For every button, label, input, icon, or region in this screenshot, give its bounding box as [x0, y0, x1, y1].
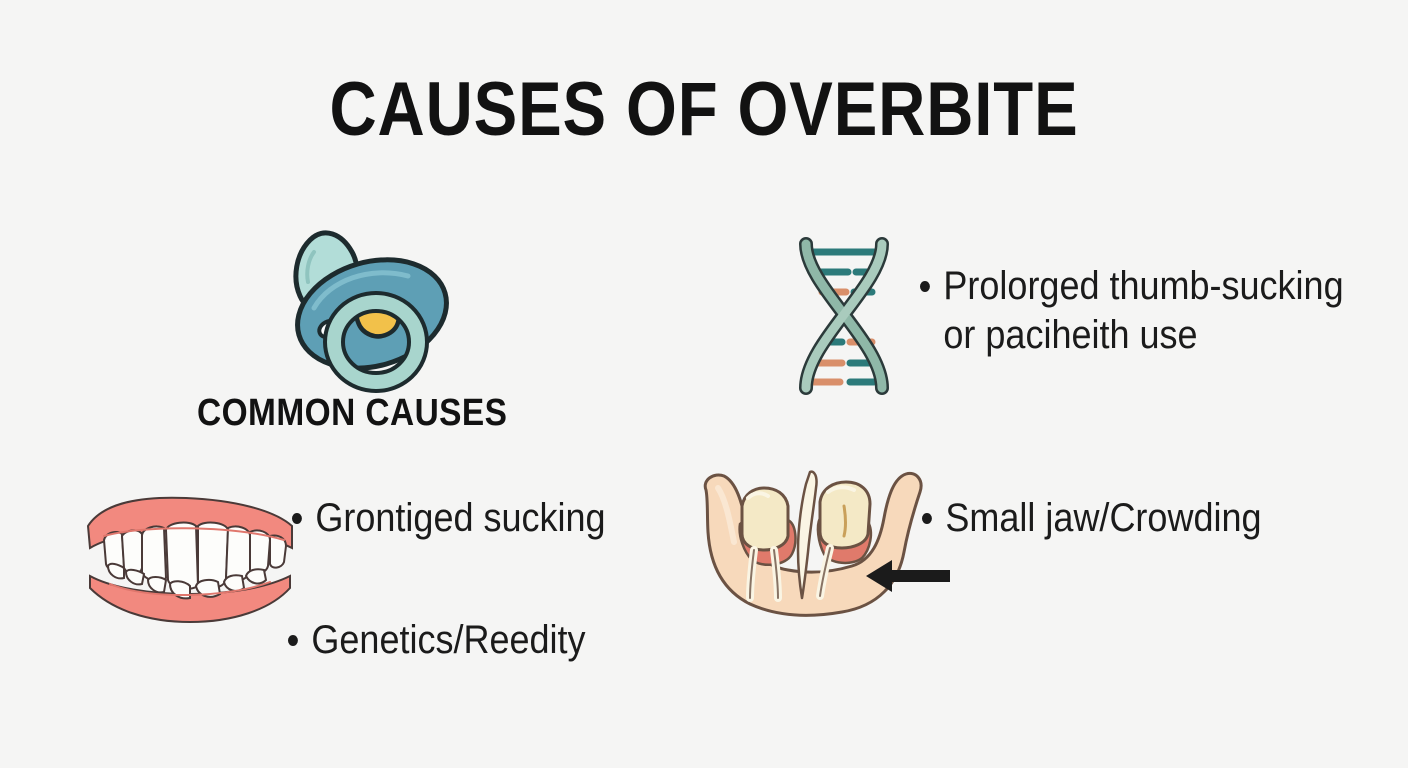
- bullet-small-jaw: Small jaw/Crowding: [922, 494, 1262, 543]
- common-causes-label: COMMON CAUSES: [197, 392, 507, 435]
- arrow-icon: [866, 560, 950, 592]
- bullet-marker-icon: [922, 513, 932, 524]
- bullet-text: Genetics/Reedity: [311, 616, 585, 665]
- bullet-text: Prolorged thumb-sucking or paciheith use: [943, 262, 1343, 360]
- page-title: CAUSES OF OVERBITE: [99, 72, 1310, 148]
- bullet-thumb-sucking: Prolorged thumb-sucking or paciheith use: [920, 262, 1344, 360]
- molar-right-groove: [844, 506, 846, 536]
- bullet-text: Grontiged sucking: [315, 494, 605, 543]
- jawbone-crowding-illustration: [692, 466, 924, 622]
- bullet-marker-icon: [292, 513, 302, 524]
- left-arrow-pointer: [866, 556, 952, 596]
- bullet-marker-icon: [288, 635, 298, 646]
- bullet-text: Small jaw/Crowding: [945, 494, 1261, 543]
- bullet-marker-icon: [920, 281, 930, 292]
- bullet-genetics: Genetics/Reedity: [288, 616, 586, 665]
- bullet-sucking: Grontiged sucking: [292, 494, 606, 543]
- teeth-gums-illustration: [78, 492, 306, 634]
- pacifier-illustration: [252, 196, 452, 392]
- infographic-canvas: CAUSES OF OVERBITE COMMON CAUSES: [0, 0, 1408, 768]
- dna-helix-illustration: [776, 230, 912, 398]
